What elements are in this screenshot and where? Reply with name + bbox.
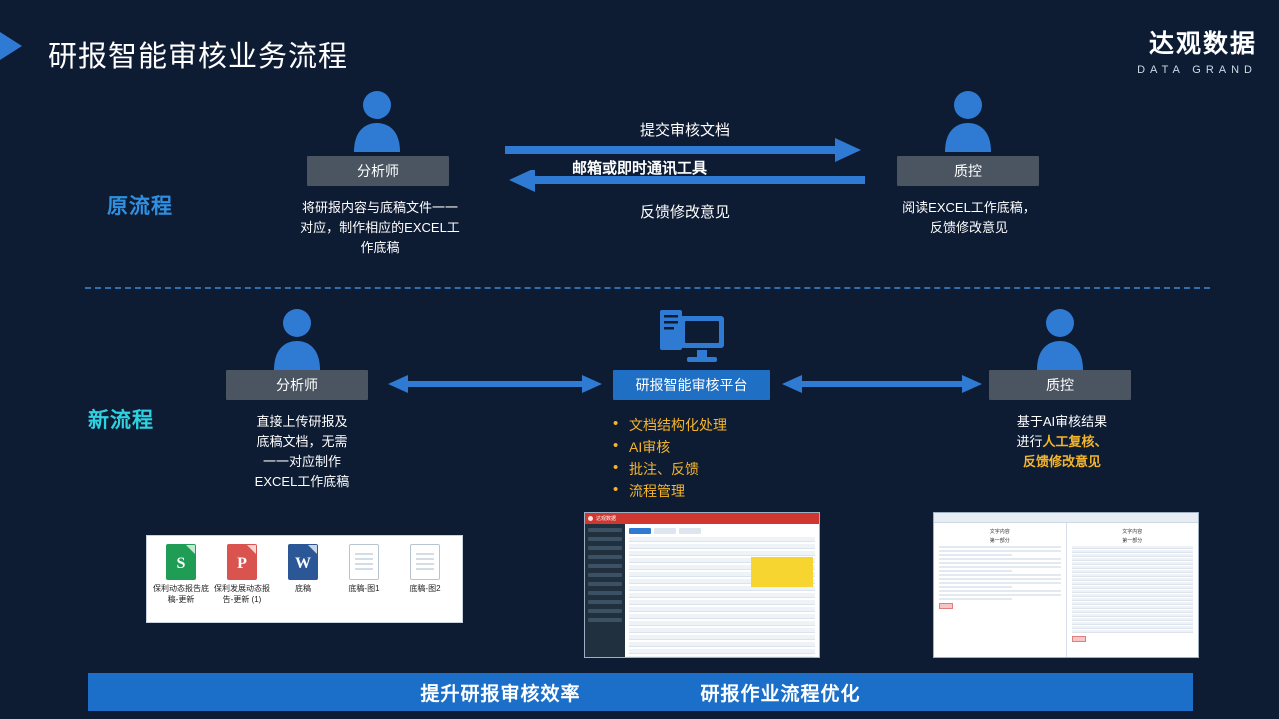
chip-qc-original: 质控 (897, 156, 1039, 186)
chip-qc-new: 质控 (989, 370, 1131, 400)
chip-analyst-original: 分析师 (307, 156, 449, 186)
chip-analyst-new: 分析师 (226, 370, 368, 400)
chip-platform: 研报智能审核平台 (613, 370, 770, 400)
file-name: 底稿-图1 (336, 583, 392, 594)
bottom-banner: 提升研报审核效率 研报作业流程优化 (88, 673, 1193, 711)
doc-right-title: 文字内容 (1072, 528, 1194, 535)
list-item: 流程管理 (613, 480, 803, 502)
file-row: S 保利动态报告底稿-更新 P 保利发展动态报告-更新 (1) W 底稿 底稿-… (147, 536, 462, 605)
doc-annotation-mark (939, 603, 953, 609)
banner-text-right: 研报作业流程优化 (701, 679, 861, 706)
doc-left-subtitle: 第一部分 (939, 537, 1061, 544)
file-name: 底稿-图2 (397, 583, 453, 594)
row-label-new: 新流程 (88, 404, 154, 434)
platform-main (625, 524, 819, 658)
list-item[interactable]: 底稿-图1 (336, 544, 392, 605)
generic-file-icon (410, 544, 440, 580)
list-item: 文档结构化处理 (613, 414, 803, 436)
desc-analyst-new-line1: 直接上传研报及 (222, 412, 382, 432)
thumbnail-file-list[interactable]: S 保利动态报告底稿-更新 P 保利发展动态报告-更新 (1) W 底稿 底稿-… (146, 535, 463, 623)
doc-body: 文字内容 第一部分 文字内容 第一部分 (934, 523, 1198, 658)
platform-tabs[interactable] (629, 528, 815, 534)
desc-analyst-new-line3: 一一对应制作 (222, 452, 382, 472)
list-item: 批注、反馈 (613, 458, 803, 480)
desc-qc-original: 阅读EXCEL工作底稿，反馈修改意见 (902, 198, 1036, 238)
desc-qc-new-prefix: 进行 (1016, 434, 1042, 449)
platform-computer-icon (660, 306, 726, 371)
list-item[interactable]: P 保利发展动态报告-更新 (1) (214, 544, 270, 605)
file-name: 保利动态报告底稿-更新 (153, 583, 209, 605)
arrow-bottom-label-original: 反馈修改意见 (505, 201, 865, 222)
desc-analyst-new: 直接上传研报及 底稿文档，无需 一一对应制作 EXCEL工作底稿 (222, 412, 382, 492)
section-divider (85, 287, 1210, 289)
generic-file-icon (349, 544, 379, 580)
list-item[interactable]: S 保利动态报告底稿-更新 (153, 544, 209, 605)
desc-qc-new-hl1: 人工复核、 (1043, 434, 1108, 449)
word-file-icon: W (288, 544, 318, 580)
doc-pane-left: 文字内容 第一部分 (934, 523, 1067, 658)
brand-name-en: DATA GRAND (1137, 64, 1257, 76)
desc-qc-new-line2: 进行人工复核、 (989, 432, 1135, 452)
page-title: 研报智能审核业务流程 (48, 33, 348, 75)
qc-person-icon (943, 90, 993, 152)
list-item[interactable]: W 底稿 (275, 544, 331, 605)
doc-pane-right: 文字内容 第一部分 (1067, 523, 1199, 658)
brand-name-cn: 达观数据 (1137, 24, 1257, 60)
platform-sidebar[interactable] (585, 524, 625, 658)
list-item: AI审核 (613, 436, 803, 458)
title-arrow-icon (0, 32, 22, 60)
desc-qc-new-line1: 基于AI审核结果 (989, 412, 1135, 432)
thumbnail-platform-screenshot[interactable]: 达观数据 (584, 512, 820, 658)
arrow-mid-label-original: 邮箱或即时通讯工具 (572, 157, 707, 178)
desc-analyst-new-line2: 底稿文档，无需 (222, 432, 382, 452)
desc-analyst-new-line4: EXCEL工作底稿 (222, 472, 382, 492)
analyst-person-icon (352, 90, 402, 152)
doc-toolbar (934, 513, 1198, 523)
platform-feature-list: 文档结构化处理 AI审核 批注、反馈 流程管理 (613, 414, 803, 502)
file-icon-letter: S (167, 555, 195, 573)
brand-logo: 达观数据 DATA GRAND (1137, 24, 1257, 76)
platform-table (629, 537, 815, 658)
file-name: 保利发展动态报告-更新 (1) (214, 583, 270, 605)
file-icon-letter: W (289, 555, 317, 573)
file-icon-letter: P (228, 555, 256, 573)
arrow-top-label-original: 提交审核文档 (505, 119, 865, 140)
doc-right-subtitle: 第一部分 (1072, 537, 1194, 544)
thumbnail-document-screenshot[interactable]: 文字内容 第一部分 文字内容 第一部分 (933, 512, 1199, 658)
desc-qc-new-hl2: 反馈修改意见 (989, 452, 1135, 472)
excel-file-icon: S (166, 544, 196, 580)
desc-qc-new: 基于AI审核结果 进行人工复核、 反馈修改意见 (989, 412, 1135, 472)
desc-analyst-original: 将研报内容与底稿文件一一对应，制作相应的EXCEL工作底稿 (300, 198, 460, 258)
list-item[interactable]: 底稿-图2 (397, 544, 453, 605)
doc-table (1072, 546, 1194, 633)
platform-highlight-box (751, 557, 813, 587)
row-label-original: 原流程 (107, 190, 173, 220)
doc-left-title: 文字内容 (939, 528, 1061, 535)
ppt-file-icon: P (227, 544, 257, 580)
qc-person-icon-new (1035, 308, 1085, 370)
platform-body (585, 524, 819, 658)
banner-text-left: 提升研报审核效率 (420, 679, 580, 706)
file-name: 底稿 (275, 583, 331, 594)
platform-title: 达观数据 (596, 515, 616, 522)
platform-titlebar: 达观数据 (585, 513, 819, 524)
analyst-person-icon-new (272, 308, 322, 370)
doc-annotation-mark (1072, 636, 1086, 642)
double-arrow-left-new (388, 372, 602, 396)
double-arrow-right-new (782, 372, 982, 396)
